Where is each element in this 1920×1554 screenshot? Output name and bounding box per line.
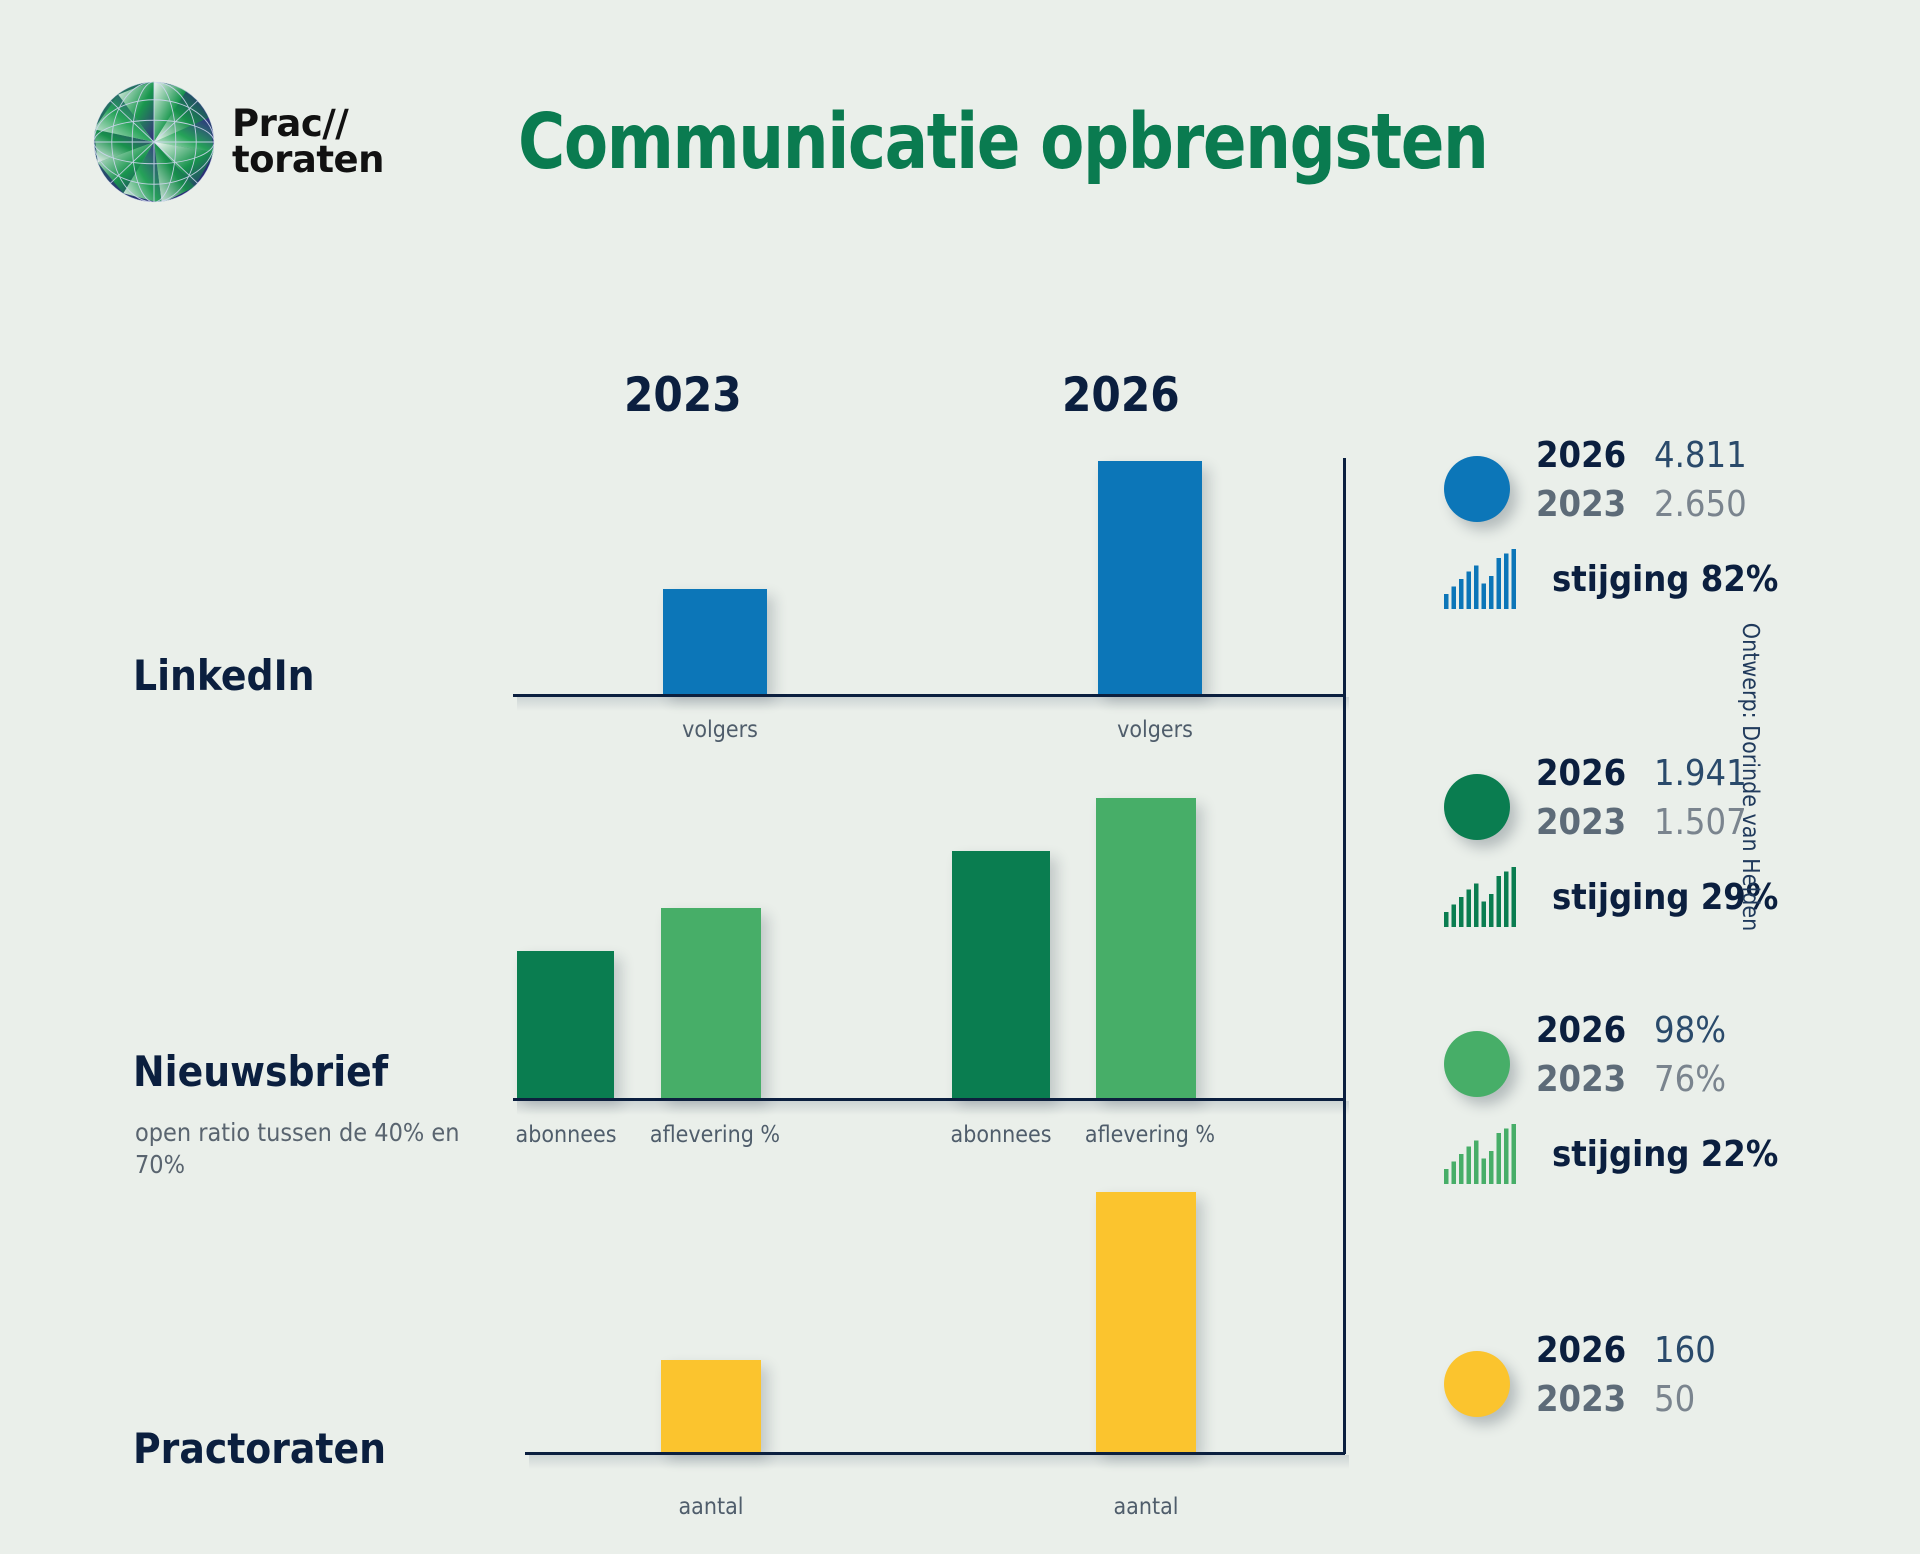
legend-value: 98% bbox=[1654, 1010, 1726, 1051]
bar-nieuwsbrief-2023-aflevering bbox=[661, 908, 761, 1098]
bar-linkedin-2026-volgers bbox=[1098, 461, 1202, 694]
legend-dot-linkedin bbox=[1444, 456, 1510, 522]
legend-dot-nieuwsbrief-abonnees bbox=[1444, 774, 1510, 840]
axis-baseline-practoraten bbox=[525, 1452, 1345, 1455]
bar-caption-linkedin-2026: volgers bbox=[1095, 717, 1215, 743]
bar-caption-linkedin-2023: volgers bbox=[660, 717, 780, 743]
legend-values-linkedin: 2026 4.811 2023 2.650 bbox=[1536, 435, 1747, 533]
legend-year: 2023 bbox=[1536, 484, 1654, 525]
bar-practoraten-2026-aantal bbox=[1096, 1192, 1196, 1452]
bar-chart-rising-icon bbox=[1444, 866, 1522, 928]
legend-year: 2026 bbox=[1536, 1010, 1654, 1051]
row-label-nieuwsbrief: Nieuwsbrief bbox=[133, 1047, 388, 1096]
legend-row: 2023 2.650 bbox=[1536, 484, 1747, 533]
bar-caption-nieuwsbrief-2026-aflevering: aflevering % bbox=[1080, 1122, 1220, 1148]
legend-trend-label: stijging 22% bbox=[1552, 1134, 1778, 1175]
legend-row: 2026 1.941 bbox=[1536, 753, 1747, 802]
legend-row: 2026 4.811 bbox=[1536, 435, 1747, 484]
legend-trend-nieuwsbrief-abonnees: stijging 29% bbox=[1430, 866, 1778, 928]
legend-row: 2023 1.507 bbox=[1536, 802, 1747, 851]
bar-linkedin-2023-volgers bbox=[663, 589, 767, 694]
legend-trend-linkedin: stijging 82% bbox=[1430, 548, 1778, 610]
axis-baseline-linkedin bbox=[513, 694, 1345, 697]
row-sublabel-nieuwsbrief: open ratio tussen de 40% en 70% bbox=[135, 1117, 465, 1181]
legend: 2026 4.811 2023 2.650 bbox=[1430, 0, 1900, 1554]
legend-year: 2023 bbox=[1536, 802, 1654, 843]
bar-practoraten-2023-aantal bbox=[661, 1360, 761, 1452]
legend-row: 2026 160 bbox=[1536, 1330, 1716, 1379]
row-label-linkedin: LinkedIn bbox=[133, 651, 315, 700]
legend-value: 76% bbox=[1654, 1059, 1726, 1100]
bar-caption-nieuwsbrief-2023-abonnees: abonnees bbox=[506, 1122, 626, 1148]
bar-chart-rising-icon bbox=[1444, 1123, 1522, 1185]
legend-row: 2023 50 bbox=[1536, 1379, 1716, 1428]
legend-value: 1.507 bbox=[1654, 802, 1747, 843]
legend-dot-practoraten bbox=[1444, 1351, 1510, 1417]
axis-baseline-nieuwsbrief bbox=[513, 1098, 1345, 1101]
legend-year: 2026 bbox=[1536, 435, 1654, 476]
legend-year: 2026 bbox=[1536, 753, 1654, 794]
design-credit: Ontwerp: Dorinde van Helden bbox=[1737, 623, 1763, 931]
bar-caption-nieuwsbrief-2023-aflevering: aflevering % bbox=[645, 1122, 785, 1148]
legend-value: 4.811 bbox=[1654, 435, 1747, 476]
bar-chart-rising-icon bbox=[1444, 548, 1522, 610]
row-label-practoraten: Practoraten bbox=[133, 1424, 386, 1473]
legend-values-nieuwsbrief-abonnees: 2026 1.941 2023 1.507 bbox=[1536, 753, 1747, 851]
legend-values-nieuwsbrief-aflevering: 2026 98% 2023 76% bbox=[1536, 1010, 1726, 1108]
legend-row: 2023 76% bbox=[1536, 1059, 1726, 1108]
bar-nieuwsbrief-2026-aflevering bbox=[1096, 798, 1196, 1098]
bar-caption-nieuwsbrief-2026-abonnees: abonnees bbox=[941, 1122, 1061, 1148]
axis-vertical bbox=[1343, 458, 1346, 1454]
legend-dot-nieuwsbrief-aflevering bbox=[1444, 1031, 1510, 1097]
legend-value: 50 bbox=[1654, 1379, 1695, 1420]
legend-value: 1.941 bbox=[1654, 753, 1747, 794]
legend-year: 2026 bbox=[1536, 1330, 1654, 1371]
legend-trend-nieuwsbrief-aflevering: stijging 22% bbox=[1430, 1123, 1778, 1185]
bar-nieuwsbrief-2023-abonnees bbox=[517, 951, 614, 1098]
bar-caption-practoraten-2026: aantal bbox=[1086, 1494, 1206, 1520]
bar-nieuwsbrief-2026-abonnees bbox=[952, 851, 1050, 1098]
legend-value: 160 bbox=[1654, 1330, 1716, 1371]
legend-year: 2023 bbox=[1536, 1379, 1654, 1420]
legend-year: 2023 bbox=[1536, 1059, 1654, 1100]
legend-value: 2.650 bbox=[1654, 484, 1747, 525]
legend-trend-label: stijging 82% bbox=[1552, 559, 1778, 600]
legend-row: 2026 98% bbox=[1536, 1010, 1726, 1059]
bar-caption-practoraten-2023: aantal bbox=[651, 1494, 771, 1520]
legend-values-practoraten: 2026 160 2023 50 bbox=[1536, 1330, 1716, 1428]
